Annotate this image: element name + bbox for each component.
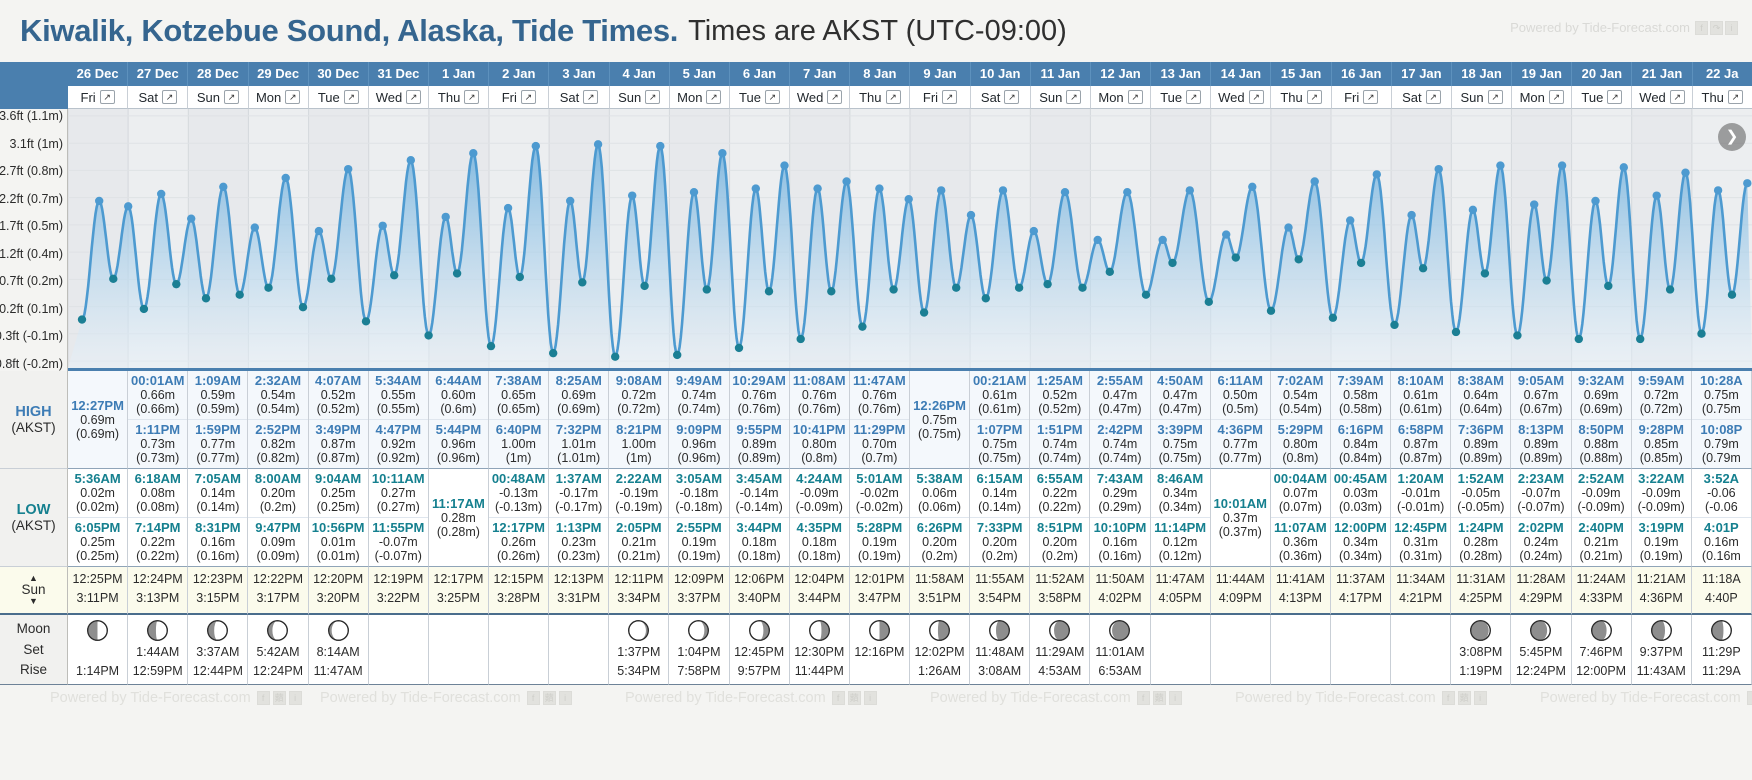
sunset-time: 4:21PM — [1391, 589, 1450, 608]
moonrise-time: 11:29A — [1702, 662, 1741, 681]
low-tide-time: 5:01AM — [850, 471, 909, 486]
date-header-24[interactable]: 19 Jan — [1512, 62, 1572, 86]
high-tide-column-3: 2:32AM0.54m(0.54m)2:52PM0.82m(0.82m) — [248, 371, 308, 469]
high-tide-event: 3:39PM0.75m(0.75m) — [1151, 419, 1210, 468]
high-tide-event: 4:36PM0.77m(0.77m) — [1211, 419, 1270, 468]
high-tide-column-2: 1:09AM0.59m(0.59m)1:59PM0.77m(0.77m) — [188, 371, 248, 469]
sun-column-20: 11:41AM4:13PM — [1271, 567, 1331, 615]
low-tide-event: 6:55AM0.22m(0.22m) — [1030, 469, 1089, 517]
low-tide-time: 12:00PM — [1331, 520, 1390, 535]
moon-phase-icon — [808, 619, 831, 642]
low-tide-event: 10:01AM0.37m(0.37m) — [1211, 494, 1270, 542]
low-tide-height-alt: (0.25m) — [68, 549, 127, 563]
date-header-5[interactable]: 31 Dec — [369, 62, 429, 86]
high-tide-time: 3:49PM — [309, 422, 368, 437]
expand-day-icon[interactable]: ↗ — [1488, 90, 1503, 104]
expand-day-icon[interactable]: ↗ — [162, 90, 177, 104]
low-tide-event: 7:14PM0.22m(0.22m) — [128, 517, 187, 566]
dow-cell-20: Thu↗ — [1271, 86, 1331, 109]
high-tide-event: 9:59AM0.72m(0.72m) — [1632, 371, 1691, 419]
high-tide-height-alt: (0.87m) — [1391, 451, 1450, 465]
high-tide-event: 9:55PM0.89m(0.89m) — [730, 419, 789, 468]
high-tide-time: 10:29AM — [730, 373, 789, 388]
low-tide-height-alt: (0.24m) — [1511, 549, 1570, 563]
moon-phase-icon — [928, 619, 951, 642]
moon-column-18 — [1151, 615, 1211, 685]
low-tide-cells: 5:36AM0.02m(0.02m)6:05PM0.25m(0.25m)6:18… — [68, 469, 1752, 567]
date-header-1[interactable]: 27 Dec — [128, 62, 188, 86]
sun-column-21: 11:37AM4:17PM — [1331, 567, 1391, 615]
high-tide-height-alt: (0.75m) — [970, 451, 1029, 465]
moon-column-12: 12:30PM11:44PM — [790, 615, 850, 685]
low-tide-event: 10:10PM0.16m(0.16m) — [1090, 517, 1149, 566]
date-header-3[interactable]: 29 Dec — [249, 62, 309, 86]
high-tide-height: 0.52m — [1030, 388, 1089, 402]
moon-column-2: 3:37AM12:44PM — [188, 615, 248, 685]
low-tide-height: 0.37m — [1211, 511, 1270, 525]
low-tide-event: 10:56PM0.01m(0.01m) — [309, 517, 368, 566]
low-tide-height-alt: (0.29m) — [1090, 500, 1149, 514]
low-tide-event: 1:37AM-0.17m(-0.17m) — [549, 469, 608, 517]
high-tide-event: 8:13PM0.89m(0.89m) — [1511, 419, 1570, 468]
sun-row: ▲ Sun ▼ 12:25PM3:11PM12:24PM3:13PM12:23P… — [0, 567, 1752, 615]
date-header-4[interactable]: 30 Dec — [309, 62, 369, 86]
moon-phase-icon — [868, 619, 891, 642]
high-tide-time: 8:38AM — [1451, 373, 1510, 388]
date-header-0[interactable]: 26 Dec — [68, 62, 128, 86]
high-tide-time: 2:52PM — [248, 422, 307, 437]
expand-day-icon[interactable]: ↗ — [1549, 90, 1564, 104]
sun-column-5: 12:19PM3:22PM — [369, 567, 429, 615]
high-tide-height-alt: (0.69m) — [68, 427, 127, 441]
low-tide-height-alt: (0.2m) — [1030, 549, 1089, 563]
high-tide-event: 9:32AM0.69m(0.69m) — [1572, 371, 1631, 419]
date-header-9[interactable]: 4 Jan — [610, 62, 670, 86]
high-tide-height-alt: (0.75m) — [1151, 451, 1210, 465]
moon-phase-icon — [1529, 619, 1552, 642]
high-tide-time: 6:44AM — [429, 373, 488, 388]
high-tide-height: 0.80m — [790, 437, 849, 451]
date-header-20[interactable]: 15 Jan — [1271, 62, 1331, 86]
expand-day-icon[interactable]: ↗ — [1426, 90, 1441, 104]
low-tide-event: 00:48AM-0.13m(-0.13m) — [489, 469, 548, 517]
page-header: Kiwalik, Kotzebue Sound, Alaska, Tide Ti… — [0, 0, 1752, 62]
sun-column-8: 12:13PM3:31PM — [549, 567, 609, 615]
low-tide-time: 3:45AM — [730, 471, 789, 486]
high-tide-height: 0.77m — [188, 437, 247, 451]
high-tide-column-26: 9:59AM0.72m(0.72m)9:28PM0.85m(0.85m) — [1632, 371, 1692, 469]
expand-day-icon[interactable]: ↗ — [1249, 90, 1264, 104]
high-tide-time: 10:41PM — [790, 422, 849, 437]
high-tide-event: 4:47PM0.92m(0.92m) — [369, 419, 428, 468]
high-tide-event: 2:42PM0.74m(0.74m) — [1090, 419, 1149, 468]
dow-cell-12: Wed↗ — [790, 86, 850, 109]
dow-label: Fri — [1344, 90, 1359, 105]
date-header-10[interactable]: 5 Jan — [670, 62, 730, 86]
sunset-time: 3:37PM — [669, 589, 728, 608]
moonset-time: 1:44AM — [136, 643, 179, 662]
high-tide-time: 1:25AM — [1030, 373, 1089, 388]
low-tide-height: 0.19m — [669, 535, 728, 549]
expand-day-icon[interactable]: ↗ — [344, 90, 359, 104]
date-header-21[interactable]: 16 Jan — [1332, 62, 1392, 86]
dow-label: Wed — [376, 90, 403, 105]
moonset-time: 5:42AM — [256, 643, 299, 662]
moon-phase-icon — [748, 619, 771, 642]
footer-info-icon[interactable]: i — [1474, 691, 1487, 705]
low-tide-column-14: 5:38AM0.06m(0.06m)6:26PM0.20m(0.2m) — [910, 469, 970, 567]
expand-day-icon[interactable]: ↗ — [827, 90, 842, 104]
date-header-7[interactable]: 2 Jan — [489, 62, 549, 86]
low-tide-event: 11:55PM-0.07m(-0.07m) — [369, 517, 428, 566]
low-tide-event: 5:38AM0.06m(0.06m) — [910, 469, 969, 517]
high-tide-time: 9:08AM — [609, 373, 668, 388]
dow-label: Thu — [859, 90, 881, 105]
low-tide-height-alt: (-0.13m) — [489, 500, 548, 514]
low-tide-column-18: 8:46AM0.34m(0.34m)11:14PM0.12m(0.12m) — [1151, 469, 1211, 567]
low-tide-event: 3:44PM0.18m(0.18m) — [730, 517, 789, 566]
low-tide-time: 12:17PM — [489, 520, 548, 535]
sunrise-time: 11:34AM — [1391, 570, 1450, 589]
high-tide-height: 0.70m — [850, 437, 909, 451]
low-tide-event: 4:24AM-0.09m(-0.09m) — [790, 469, 849, 517]
date-header-23[interactable]: 18 Jan — [1452, 62, 1512, 86]
high-tide-time: 9:05AM — [1511, 373, 1570, 388]
date-header-8[interactable]: 3 Jan — [549, 62, 609, 86]
low-tide-height-alt: (0.34m) — [1151, 500, 1210, 514]
sunrise-time: 12:11PM — [609, 570, 668, 589]
sunrise-time: 11:47AM — [1151, 570, 1210, 589]
high-tide-height-alt: (0.75m — [1692, 402, 1751, 416]
expand-day-icon[interactable]: ↗ — [1307, 90, 1322, 104]
footer-facebook-icon[interactable]: f — [257, 691, 270, 705]
date-header-15[interactable]: 10 Jan — [971, 62, 1031, 86]
high-tide-event: 7:38AM0.65m(0.65m) — [489, 371, 548, 419]
chart-options-icon[interactable]: ❯ — [1718, 123, 1746, 151]
expand-day-icon[interactable]: ↗ — [706, 90, 721, 104]
share-icon[interactable]: ↷ — [1710, 21, 1723, 35]
footer-facebook-icon[interactable]: f — [1442, 691, 1455, 705]
expand-day-icon[interactable]: ↗ — [1363, 90, 1378, 104]
sun-cells: 12:25PM3:11PM12:24PM3:13PM12:23PM3:15PM1… — [68, 567, 1752, 615]
moonset-time: 12:02PM — [915, 643, 965, 662]
low-tide-event: 2:22AM-0.19m(-0.19m) — [609, 469, 668, 517]
date-header-17[interactable]: 12 Jan — [1091, 62, 1151, 86]
low-tide-height: 0.16m — [1692, 535, 1751, 549]
expand-day-icon[interactable]: ↗ — [1186, 90, 1201, 104]
low-tide-time: 5:28PM — [850, 520, 909, 535]
footer-info-icon[interactable]: i — [1169, 691, 1182, 705]
sunset-time: 3:25PM — [429, 589, 488, 608]
sunrise-time: 11:28AM — [1511, 570, 1570, 589]
sunrise-time: 12:23PM — [188, 570, 247, 589]
moonrise-time: 5:34PM — [617, 662, 660, 681]
high-tide-height-alt: (0.84m) — [1331, 451, 1390, 465]
social-icons: f ↷ i — [1695, 21, 1738, 35]
low-tide-time: 4:01P — [1692, 520, 1751, 535]
moon-phase-icon — [327, 619, 350, 642]
moonset-time: 11:01AM — [1095, 643, 1144, 662]
moon-shadow — [879, 620, 889, 640]
sunset-time: 4:25PM — [1451, 589, 1510, 608]
date-header-6[interactable]: 1 Jan — [429, 62, 489, 86]
dow-cell-14: Fri↗ — [910, 86, 970, 109]
y-tick-9: -0.8ft (-0.2m) — [0, 357, 63, 371]
low-tide-height: 0.22m — [1030, 486, 1089, 500]
high-tide-time: 2:32AM — [248, 373, 307, 388]
footer-share-icon[interactable]: 蘱 — [1458, 691, 1471, 705]
footer-info-icon[interactable]: i — [289, 691, 302, 705]
low-tide-column-3: 8:00AM0.20m(0.2m)9:47PM0.09m(0.09m) — [248, 469, 308, 567]
low-tide-event: 2:52AM-0.09m(-0.09m) — [1572, 469, 1631, 517]
high-tide-height: 0.69m — [549, 388, 608, 402]
high-tide-event: 4:07AM0.52m(0.52m) — [309, 371, 368, 419]
expand-day-icon[interactable]: ↗ — [942, 90, 957, 104]
high-tide-height-alt: (0.66m) — [128, 402, 187, 416]
sunrise-time: 12:19PM — [369, 570, 428, 589]
moon-phase-icon — [1590, 619, 1613, 642]
high-tide-event: 5:34AM0.55m(0.55m) — [369, 371, 428, 419]
high-tide-time: 8:50PM — [1572, 422, 1631, 437]
high-tide-height: 0.77m — [1211, 437, 1270, 451]
high-tide-height: 0.88m — [1572, 437, 1631, 451]
high-tide-event: 8:10AM0.61m(0.61m) — [1391, 371, 1450, 419]
low-tide-height-alt: (0.2m) — [248, 500, 307, 514]
high-tide-event: 5:44PM0.96m(0.96m) — [429, 419, 488, 468]
moonrise-time: 7:58PM — [677, 662, 720, 681]
low-tide-event: 8:51PM0.20m(0.2m) — [1030, 517, 1089, 566]
high-tide-event: 10:41PM0.80m(0.8m) — [790, 419, 849, 468]
footer-powered-by-text: Powered by Tide-Forecast.com — [320, 690, 521, 706]
expand-day-icon[interactable]: ↗ — [406, 90, 421, 104]
expand-day-icon[interactable]: ↗ — [886, 90, 901, 104]
low-tide-height: 0.12m — [1151, 535, 1210, 549]
low-tide-height: 0.22m — [128, 535, 187, 549]
high-tide-height-alt: (0.64m) — [1451, 402, 1510, 416]
low-tide-event: 8:31PM0.16m(0.16m) — [188, 517, 247, 566]
dow-header-row: Fri↗Sat↗Sun↗Mon↗Tue↗Wed↗Thu↗Fri↗Sat↗Sun↗… — [0, 86, 1752, 109]
expand-day-icon[interactable]: ↗ — [1728, 90, 1743, 104]
high-tide-event: 7:32PM1.01m(1.01m) — [549, 419, 608, 468]
high-tide-column-22: 8:10AM0.61m(0.61m)6:58PM0.87m(0.87m) — [1391, 371, 1451, 469]
high-tide-height-alt: (0.89m) — [1511, 451, 1570, 465]
moonrise-time: 11:47AM — [314, 662, 363, 681]
low-tide-height-alt: (-0.09m) — [1572, 500, 1631, 514]
expand-day-icon[interactable]: ↗ — [765, 90, 780, 104]
high-tide-time: 7:39AM — [1331, 373, 1390, 388]
dow-label: Wed — [1639, 90, 1666, 105]
sun-column-27: 11:18A4:40P — [1692, 567, 1752, 615]
low-tide-height-alt: (-0.01m) — [1391, 500, 1450, 514]
date-header-18[interactable]: 13 Jan — [1151, 62, 1211, 86]
date-header-27[interactable]: 22 Ja — [1693, 62, 1752, 86]
moonrise-time — [517, 657, 520, 676]
low-tide-row: LOW (AKST) 5:36AM0.02m(0.02m)6:05PM0.25m… — [0, 469, 1752, 567]
high-tide-time: 00:01AM — [128, 373, 187, 388]
date-header-2[interactable]: 28 Dec — [188, 62, 248, 86]
expand-day-icon[interactable]: ↗ — [1004, 90, 1019, 104]
moon-column-10: 1:04PM7:58PM — [669, 615, 729, 685]
date-header-22[interactable]: 17 Jan — [1392, 62, 1452, 86]
expand-day-icon[interactable]: ↗ — [285, 90, 300, 104]
low-tide-column-2: 7:05AM0.14m(0.14m)8:31PM0.16m(0.16m) — [188, 469, 248, 567]
moonset-time: 11:29P — [1702, 643, 1741, 662]
low-tide-time: 10:10PM — [1090, 520, 1149, 535]
dow-cell-16: Sun↗ — [1031, 86, 1091, 109]
low-tide-time: 7:33PM — [970, 520, 1029, 535]
moon-column-26: 9:37PM11:43AM — [1632, 615, 1692, 685]
low-tide-height-alt: (0.19m) — [1632, 549, 1691, 563]
high-tide-time: 00:21AM — [970, 373, 1029, 388]
moon-column-23: 3:08PM1:19PM — [1451, 615, 1511, 685]
low-tide-event: 2:02PM0.24m(0.24m) — [1511, 517, 1570, 566]
footer-facebook-icon[interactable]: f — [1747, 691, 1752, 705]
expand-day-icon[interactable]: ↗ — [1670, 90, 1685, 104]
footer-facebook-icon[interactable]: f — [1137, 691, 1150, 705]
high-tide-time: 8:10AM — [1391, 373, 1450, 388]
footer-info-icon[interactable]: i — [559, 691, 572, 705]
facebook-icon[interactable]: f — [1695, 21, 1708, 35]
footer-social-icons: f蘱i — [1442, 691, 1487, 705]
low-tide-event: 11:07AM0.36m(0.36m) — [1271, 517, 1330, 566]
low-tide-event: 2:23AM-0.07m(-0.07m) — [1511, 469, 1570, 517]
date-header-11[interactable]: 6 Jan — [730, 62, 790, 86]
expand-day-icon[interactable]: ↗ — [1066, 90, 1081, 104]
low-tide-event: 3:52A-0.06(-0.06 — [1692, 469, 1751, 517]
date-header-12[interactable]: 7 Jan — [790, 62, 850, 86]
high-tide-height-alt: (0.65m) — [489, 402, 548, 416]
low-tide-height: -0.09m — [1632, 486, 1691, 500]
sunset-time: 4:29PM — [1511, 589, 1570, 608]
moon-phase-icon — [687, 619, 710, 642]
high-tide-height: 0.69m — [1572, 388, 1631, 402]
high-tide-height: 0.72m — [609, 388, 668, 402]
high-tide-event: 1:51PM0.74m(0.74m) — [1030, 419, 1089, 468]
low-tide-height: 0.26m — [489, 535, 548, 549]
high-tide-time: 1:09AM — [188, 373, 247, 388]
footer-facebook-icon[interactable]: f — [832, 691, 845, 705]
date-header-19[interactable]: 14 Jan — [1211, 62, 1271, 86]
sunset-time: 3:11PM — [68, 589, 127, 608]
sunrise-time: 12:25PM — [68, 570, 127, 589]
high-tide-height-alt: (0.54m) — [248, 402, 307, 416]
dow-label: Fri — [923, 90, 938, 105]
low-tide-height: 0.28m — [1451, 535, 1510, 549]
high-tide-height: 0.61m — [1391, 388, 1450, 402]
moonrise-time — [1239, 657, 1242, 676]
dow-cell-15: Sat↗ — [971, 86, 1031, 109]
chart-plot-area[interactable]: ❯ — [68, 109, 1752, 371]
low-tide-height: -0.01m — [1391, 486, 1450, 500]
low-tide-time: 3:19PM — [1632, 520, 1691, 535]
date-header-13[interactable]: 8 Jan — [850, 62, 910, 86]
low-tide-column-5: 10:11AM0.27m(0.27m)11:55PM-0.07m(-0.07m) — [369, 469, 429, 567]
footer-share-icon[interactable]: 蘱 — [543, 691, 556, 705]
low-tide-event: 1:13PM0.23m(0.23m) — [549, 517, 608, 566]
low-tide-time: 00:48AM — [489, 471, 548, 486]
sun-column-15: 11:55AM3:54PM — [970, 567, 1030, 615]
high-tide-height: 0.96m — [429, 437, 488, 451]
footer-share-icon[interactable]: 蘱 — [273, 691, 286, 705]
expand-day-icon[interactable]: ↗ — [100, 90, 115, 104]
low-tide-column-21: 00:45AM0.03m(0.03m)12:00PM0.34m(0.34m) — [1331, 469, 1391, 567]
moonrise-time: 12:44PM — [193, 662, 243, 681]
footer-watermark-4: Powered by Tide-Forecast.comf蘱i — [1235, 690, 1487, 706]
moonset-time: 8:14AM — [317, 643, 360, 662]
high-tide-height-alt: (1m) — [609, 451, 668, 465]
footer-facebook-icon[interactable]: f — [527, 691, 540, 705]
moonrise-time — [457, 657, 460, 676]
high-tide-event: 2:32AM0.54m(0.54m) — [248, 371, 307, 419]
low-tide-event: 6:15AM0.14m(0.14m) — [970, 469, 1029, 517]
footer-share-icon[interactable]: 蘱 — [848, 691, 861, 705]
high-tide-time: 7:36PM — [1451, 422, 1510, 437]
low-tide-height: 0.14m — [970, 486, 1029, 500]
sun-column-25: 11:24AM4:33PM — [1572, 567, 1632, 615]
moon-column-17: 11:01AM6:53AM — [1090, 615, 1150, 685]
sun-column-17: 11:50AM4:02PM — [1090, 567, 1150, 615]
sun-label: ▲ Sun ▼ — [0, 567, 68, 615]
high-tide-height: 0.54m — [1271, 388, 1330, 402]
expand-day-icon[interactable]: ↗ — [645, 90, 660, 104]
expand-day-icon[interactable]: ↗ — [464, 90, 479, 104]
footer-share-icon[interactable]: 蘱 — [1153, 691, 1166, 705]
high-tide-height-alt: (0.76m) — [790, 402, 849, 416]
low-tide-time: 6:18AM — [128, 471, 187, 486]
low-tide-time: 2:23AM — [1511, 471, 1570, 486]
high-tide-time: 12:26PM — [910, 398, 969, 413]
high-tide-height-alt: (0.5m) — [1211, 402, 1270, 416]
high-tide-time: 9:32AM — [1572, 373, 1631, 388]
expand-day-icon[interactable]: ↗ — [1607, 90, 1622, 104]
moon-column-21 — [1331, 615, 1391, 685]
low-tide-height-alt: (0.03m) — [1331, 500, 1390, 514]
date-header-25[interactable]: 20 Jan — [1572, 62, 1632, 86]
expand-day-icon[interactable]: ↗ — [224, 90, 239, 104]
high-tide-time: 4:50AM — [1151, 373, 1210, 388]
sunrise-time: 11:21AM — [1632, 570, 1691, 589]
moonset-time: 12:30PM — [794, 643, 844, 662]
expand-day-icon[interactable]: ↗ — [583, 90, 598, 104]
low-tide-column-25: 2:52AM-0.09m(-0.09m)2:40PM0.21m(0.21m) — [1572, 469, 1632, 567]
expand-day-icon[interactable]: ↗ — [1128, 90, 1143, 104]
footer-info-icon[interactable]: i — [864, 691, 877, 705]
sunrise-time: 12:06PM — [730, 570, 789, 589]
moonset-time — [1178, 638, 1181, 657]
high-tide-height-alt: (0.8m) — [790, 451, 849, 465]
low-tide-event: 9:04AM0.25m(0.25m) — [309, 469, 368, 517]
moonrise-time — [1299, 657, 1302, 676]
low-tide-height-alt: (0.26m) — [489, 549, 548, 563]
y-tick-0: 3.6ft (1.1m) — [0, 109, 63, 123]
high-tide-height-alt: (0.87m) — [309, 451, 368, 465]
high-tide-height-alt: (0.61m) — [970, 402, 1029, 416]
date-header-26[interactable]: 21 Jan — [1632, 62, 1692, 86]
info-icon[interactable]: i — [1725, 21, 1738, 35]
moonrise-time — [1178, 657, 1181, 676]
low-tide-height-alt: (0.16m — [1692, 549, 1751, 563]
high-tide-height: 0.76m — [790, 388, 849, 402]
expand-day-icon[interactable]: ↗ — [521, 90, 536, 104]
low-tide-height: 0.18m — [790, 535, 849, 549]
low-tide-time: 00:45AM — [1331, 471, 1390, 486]
high-tide-height-alt: (0.55m) — [369, 402, 428, 416]
moonrise-time: 1:19PM — [1459, 662, 1502, 681]
low-tide-height: 0.07m — [1271, 486, 1330, 500]
date-header-14[interactable]: 9 Jan — [910, 62, 970, 86]
moonrise-time: 12:24PM — [1516, 662, 1566, 681]
date-header-16[interactable]: 11 Jan — [1031, 62, 1091, 86]
